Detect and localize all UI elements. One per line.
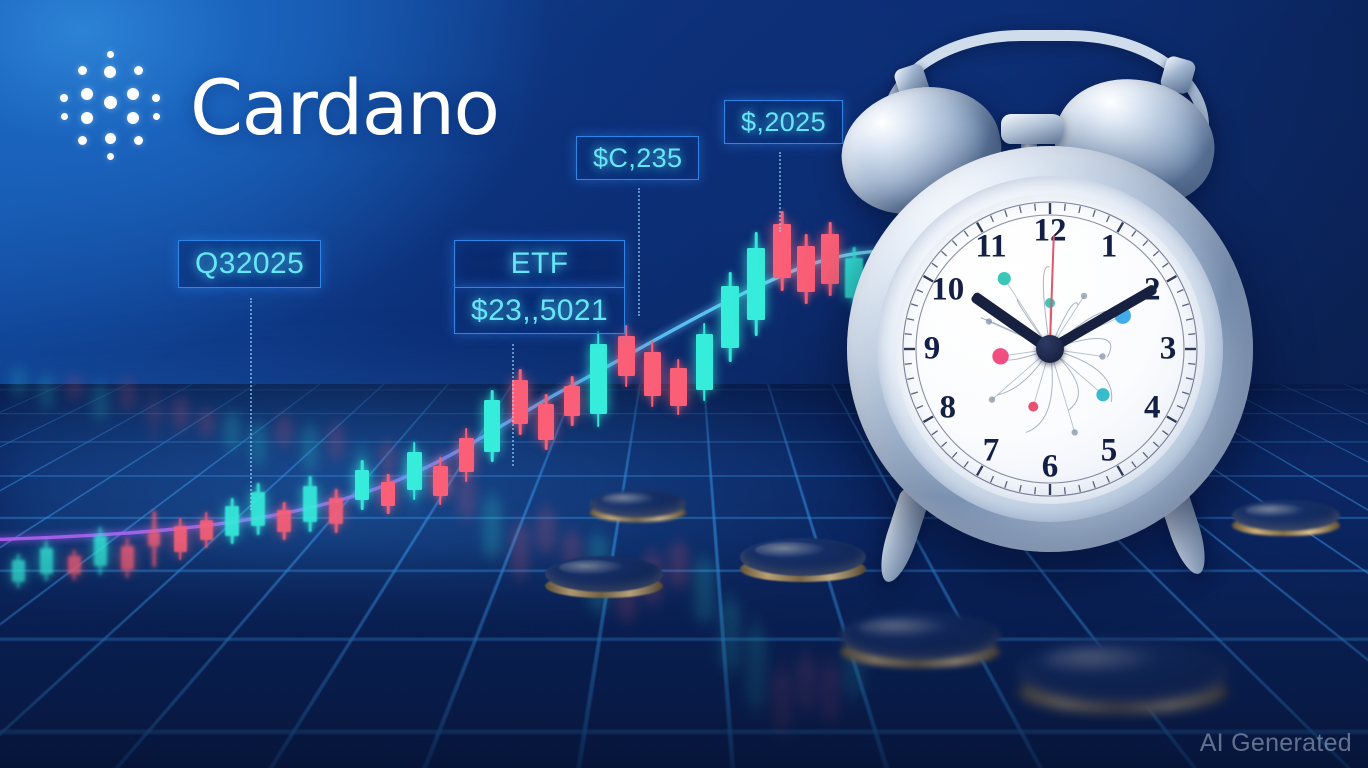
candlestick <box>355 470 369 520</box>
candlestick <box>747 248 765 352</box>
candlestick <box>148 532 160 588</box>
coin <box>590 490 686 522</box>
coin <box>545 556 663 598</box>
callout-leader-line <box>638 188 640 316</box>
clock-dial: 121234567891011 <box>895 194 1205 504</box>
callout-box: $C,235 <box>576 136 699 180</box>
clock-bezel: 121234567891011 <box>877 176 1223 522</box>
callout-leader-line <box>250 298 252 510</box>
candlestick <box>618 336 635 398</box>
callout-box: Q32025 <box>178 240 321 288</box>
clock-numeral-5: 5 <box>1101 435 1118 468</box>
candlestick <box>644 352 661 418</box>
candlestick <box>407 452 422 510</box>
callout-leader-line <box>779 152 781 232</box>
candlestick <box>277 510 291 548</box>
candlestick <box>721 286 739 376</box>
candlestick <box>590 344 607 440</box>
clock-numeral-1: 1 <box>1101 230 1118 263</box>
alarm-clock: 121234567891011 <box>833 18 1263 598</box>
clock-hammer-head <box>1001 114 1063 144</box>
candlestick <box>200 520 213 556</box>
candlestick <box>251 492 265 544</box>
clock-case: 121234567891011 <box>847 146 1253 552</box>
cardano-dot-constellation-icon <box>60 52 164 162</box>
ai-generated-watermark: AI Generated <box>1200 729 1352 758</box>
candlestick <box>484 400 500 472</box>
candlestick <box>564 386 580 436</box>
clock-numeral-6: 6 <box>1042 451 1059 484</box>
candlestick <box>12 560 25 594</box>
clock-numeral-9: 9 <box>924 333 941 366</box>
clock-numeral-7: 7 <box>983 435 1000 468</box>
cardano-logo: Cardano <box>60 52 499 162</box>
callout-box: $,2025 <box>724 100 843 144</box>
hero-image-scene: Q32025 ETF $23,,5021 $C,235 $,2025 Carda… <box>0 0 1368 768</box>
callout-text: ETF <box>471 247 608 281</box>
candlestick <box>538 404 554 460</box>
candlestick <box>797 246 815 316</box>
candlestick <box>381 482 395 522</box>
candlestick <box>459 438 474 492</box>
candlestick <box>670 368 687 424</box>
clock-numeral-11: 11 <box>975 230 1006 263</box>
clock-numeral-12: 12 <box>1034 215 1067 248</box>
candlestick <box>121 546 134 586</box>
candlestick <box>433 466 448 514</box>
callout-etf: ETF $23,,5021 <box>454 240 625 334</box>
callout-text: Q32025 <box>195 247 304 281</box>
candlestick <box>174 526 187 568</box>
brand-wordmark: Cardano <box>190 63 499 152</box>
candlestick <box>40 548 53 588</box>
callout-text: $,2025 <box>741 107 826 137</box>
coin <box>1018 640 1228 714</box>
callout-price-mid: $C,235 <box>576 136 699 180</box>
candlestick <box>512 380 528 446</box>
coin <box>840 612 1000 668</box>
candlestick <box>329 498 343 542</box>
callout-text: $23,,5021 <box>471 294 608 328</box>
callout-text: $C,235 <box>593 143 682 173</box>
callout-box-title: ETF <box>454 240 625 288</box>
clock-numeral-8: 8 <box>940 392 957 425</box>
clock-center-pin <box>1036 335 1064 363</box>
candlestick <box>68 556 81 586</box>
clock-numeral-10: 10 <box>931 274 964 307</box>
callout-leader-line <box>512 344 514 466</box>
candlestick <box>225 506 239 552</box>
callout-box-value: $23,,5021 <box>454 287 625 335</box>
clock-numeral-3: 3 <box>1160 333 1177 366</box>
candlestick <box>773 224 791 304</box>
candlestick <box>94 536 107 584</box>
clock-numeral-4: 4 <box>1144 392 1161 425</box>
candlestick <box>303 486 317 542</box>
candlestick <box>696 334 713 412</box>
callout-year: $,2025 <box>724 100 843 144</box>
callout-q3-2025: Q32025 <box>178 240 321 288</box>
